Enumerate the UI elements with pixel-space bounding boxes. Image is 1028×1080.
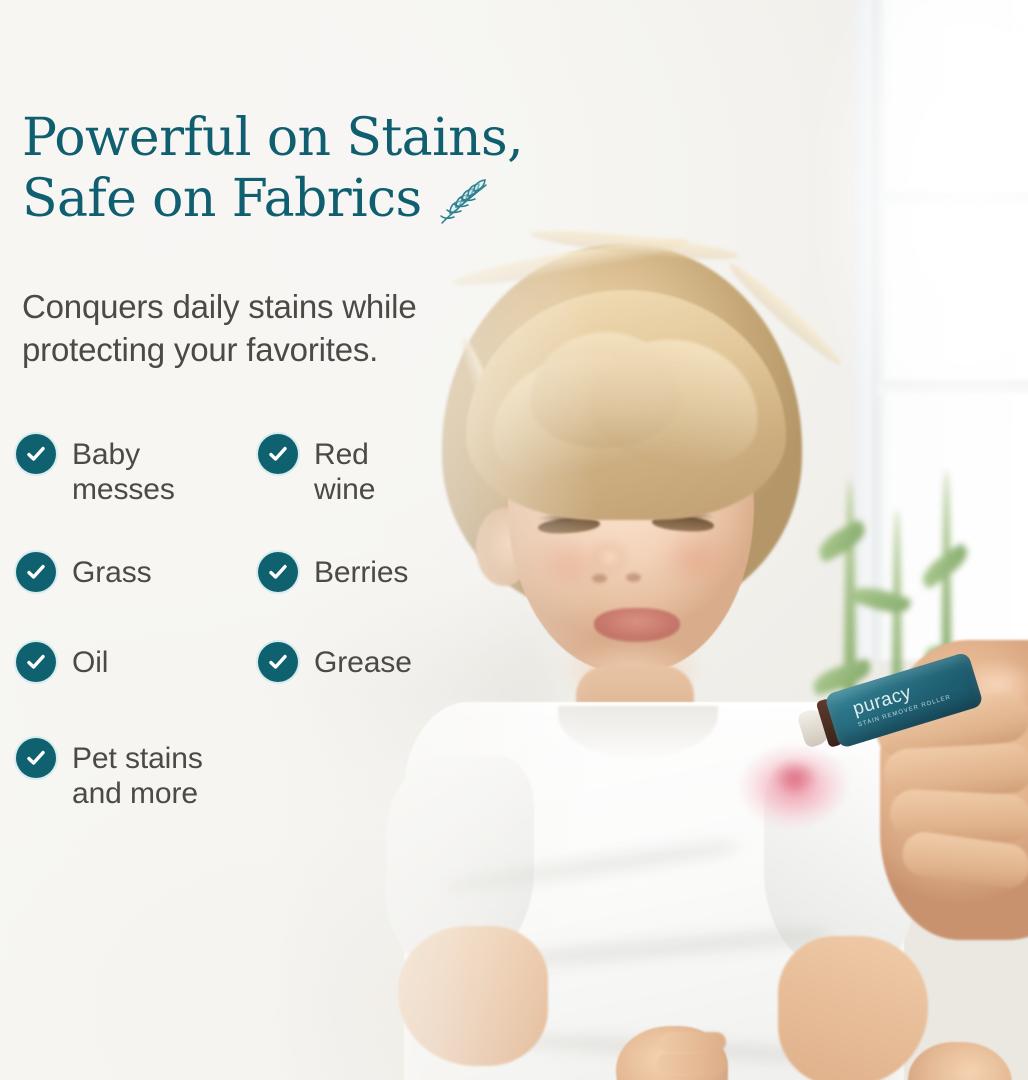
benefits-checklist: Baby messes Red wine Grass: [16, 434, 516, 812]
check-circle-icon: [258, 434, 298, 474]
checklist-label: Red wine: [314, 434, 375, 508]
check-circle-icon: [16, 434, 56, 474]
check-circle-icon: [258, 642, 298, 682]
check-circle-icon: [16, 552, 56, 592]
checklist-row: Grass Berries: [16, 552, 516, 592]
checklist-label: Grease: [314, 642, 412, 680]
checklist-item-grease: Grease: [258, 642, 508, 682]
headline-line-1: Powerful on Stains,: [22, 108, 552, 169]
checklist-item-pet-stains: Pet stains and more: [16, 738, 258, 812]
checklist-label: Oil: [72, 642, 108, 680]
subheadline: Conquers daily stains while protecting y…: [22, 286, 542, 372]
pink-stain-core: [772, 760, 818, 794]
checklist-item-red-wine: Red wine: [258, 434, 508, 508]
check-circle-icon: [16, 642, 56, 682]
checklist-label: Berries: [314, 552, 408, 590]
checklist-label: Baby messes: [72, 434, 175, 508]
checklist-label: Grass: [72, 552, 152, 590]
checklist-row: Oil Grease: [16, 642, 516, 682]
checklist-label: Pet stains and more: [72, 738, 203, 812]
checklist-item-grass: Grass: [16, 552, 258, 592]
checklist-item-berries: Berries: [258, 552, 508, 592]
leaf-sprig-icon: [436, 177, 492, 227]
copy-block: Powerful on Stains, Safe on Fabrics: [0, 0, 560, 1080]
headline-line-2-row: Safe on Fabrics: [22, 169, 552, 230]
headline-line-2: Safe on Fabrics: [22, 169, 422, 230]
promo-banner: puracy STAIN REMOVER ROLLER Powerful on …: [0, 0, 1028, 1080]
check-circle-icon: [16, 738, 56, 778]
mouth: [594, 608, 680, 642]
check-circle-icon: [258, 552, 298, 592]
checklist-row: Pet stains and more: [16, 738, 516, 812]
subheadline-line-2: protecting your favorites.: [22, 329, 542, 372]
headline: Powerful on Stains, Safe on Fabrics: [22, 108, 552, 230]
checklist-item-baby-messes: Baby messes: [16, 434, 258, 508]
checklist-row: Baby messes Red wine: [16, 434, 516, 508]
child-arm-right: [778, 936, 928, 1080]
subheadline-line-1: Conquers daily stains while: [22, 286, 542, 329]
checklist-item-oil: Oil: [16, 642, 258, 682]
